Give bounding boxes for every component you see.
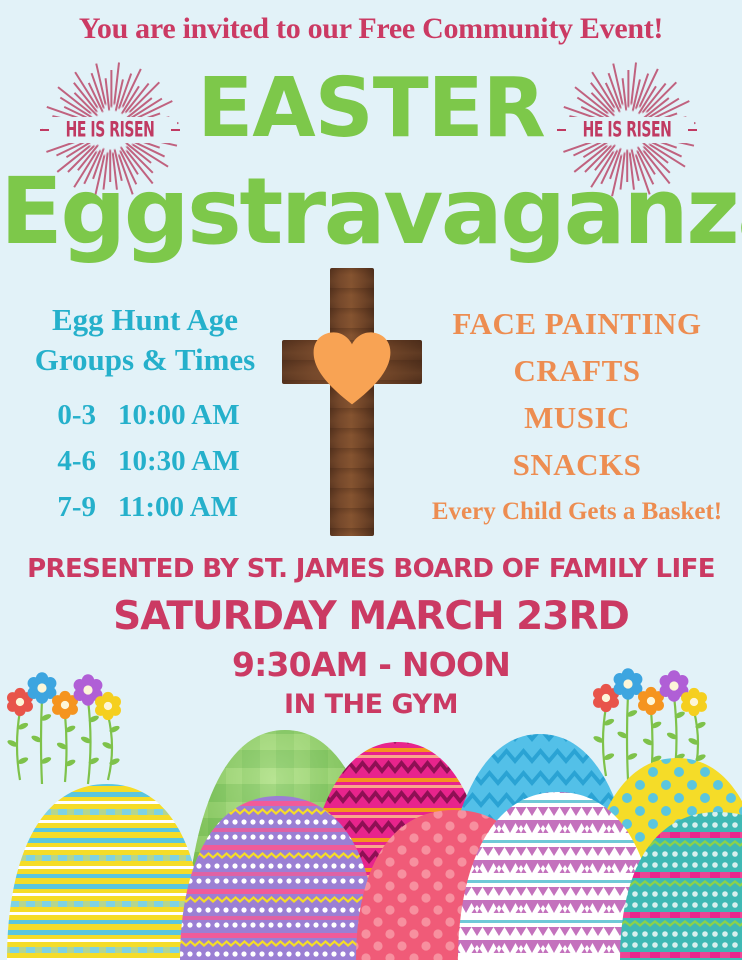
activities-list: FACE PAINTING CRAFTS MUSIC SNACKS Every … <box>412 300 742 532</box>
easter-egg-row <box>0 700 742 960</box>
activity-item: CRAFTS <box>412 347 742 394</box>
page-title-eggstravaganza: Eggstravaganza <box>0 162 742 262</box>
hunt-time: 10:30 AM <box>96 438 268 484</box>
he-is-risen-label: HE IS RISEN <box>566 116 689 144</box>
activity-item: FACE PAINTING <box>412 300 742 347</box>
presented-by-line: PRESENTED BY ST. JAMES BOARD OF FAMILY L… <box>0 552 742 586</box>
schedule-row: 4-6 10:30 AM <box>0 438 290 484</box>
schedule-row: 7-9 11:00 AM <box>0 484 290 530</box>
badge-tick-right <box>171 129 180 131</box>
age-group: 7-9 <box>22 484 96 530</box>
egg-hunt-heading-line1: Egg Hunt Age <box>0 300 290 340</box>
egg-hunt-schedule: Egg Hunt Age Groups & Times 0-3 10:00 AM… <box>0 300 290 530</box>
badge-tick-right <box>688 129 697 131</box>
wooden-cross-icon <box>282 268 422 536</box>
hunt-time: 11:00 AM <box>96 484 268 530</box>
badge-tick-left <box>557 129 566 131</box>
schedule-row: 0-3 10:00 AM <box>0 392 290 438</box>
egg-hunt-heading-line2: Groups & Times <box>0 340 290 380</box>
activity-item: SNACKS <box>412 441 742 488</box>
badge-tick-left <box>40 129 49 131</box>
basket-note: Every Child Gets a Basket! <box>412 492 742 532</box>
hunt-time: 10:00 AM <box>96 392 268 438</box>
heart-icon <box>312 330 392 410</box>
easter-event-flyer: You are invited to our Free Community Ev… <box>0 0 742 960</box>
he-is-risen-label: HE IS RISEN <box>49 116 172 144</box>
event-date: SATURDAY MARCH 23RD <box>0 592 742 642</box>
activity-item: MUSIC <box>412 394 742 441</box>
yellow-striped-egg <box>7 784 205 960</box>
age-group: 4-6 <box>22 438 96 484</box>
invite-headline: You are invited to our Free Community Ev… <box>0 12 742 46</box>
age-group: 0-3 <box>22 392 96 438</box>
